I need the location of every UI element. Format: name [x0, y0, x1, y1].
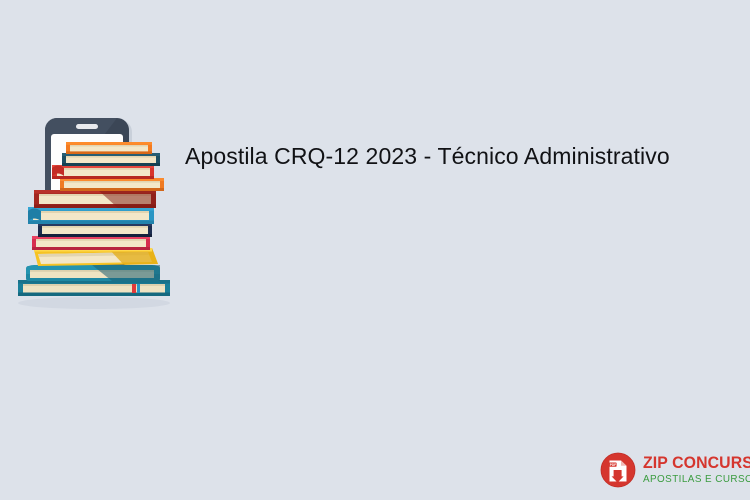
book-orange-band: [60, 178, 164, 191]
book-teal-upper: [26, 265, 160, 281]
book-dark-teal: [62, 153, 160, 166]
book-top-orange: [66, 142, 152, 154]
book-blue: [28, 207, 154, 224]
book-yellow: [34, 248, 158, 266]
product-title: Apostila CRQ-12 2023 - Técnico Administr…: [185, 141, 705, 171]
book-dark-red: [34, 190, 156, 208]
svg-text:PDF: PDF: [610, 463, 616, 467]
product-banner: Apostila CRQ-12 2023 - Técnico Administr…: [0, 0, 750, 500]
book-crimson: [32, 236, 150, 250]
brand-logo[interactable]: PDF ZIP CONCURSOS APOSTILAS E CURSOS: [600, 452, 750, 488]
brand-tagline: APOSTILAS E CURSOS: [643, 475, 750, 485]
brand-text-block: ZIP CONCURSOS APOSTILAS E CURSOS: [643, 455, 750, 485]
pdf-download-circle-icon: PDF: [600, 452, 636, 488]
books-stack-with-smartphone-illustration: [12, 118, 172, 313]
book-navy: [38, 223, 152, 237]
brand-name: ZIP CONCURSOS: [643, 455, 750, 472]
book-bottom-teal: [18, 280, 170, 296]
book-red: [52, 165, 154, 179]
